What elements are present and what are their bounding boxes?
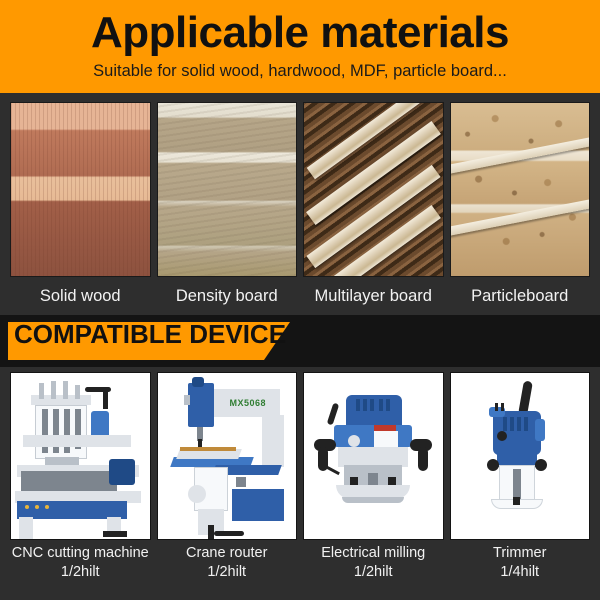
cnc-cutting-machine-photo [10, 372, 151, 540]
crane-router-photo: MX5068 [157, 372, 298, 540]
material-label: Particleboard [450, 277, 591, 315]
electrical-milling-photo [303, 372, 444, 540]
device-name: Trimmer [493, 545, 546, 561]
multilayer-board-texture [303, 102, 444, 277]
material-card-multilayer-board: Multilayer board [303, 102, 444, 315]
device-card-electrical-milling: Electrical milling 1/2hilt [303, 372, 444, 600]
compatible-device-label: COMPATIBLE DEVICE [14, 315, 286, 353]
device-name: Electrical milling [321, 545, 425, 561]
device-card-cnc-cutting-machine: CNC cutting machine 1/2hilt [10, 372, 151, 600]
material-label: Multilayer board [303, 277, 444, 315]
product-infographic: Applicable materials Suitable for solid … [0, 0, 600, 600]
compatible-device-banner-area: COMPATIBLE DEVICE [0, 315, 600, 367]
device-caption: Trimmer 1/4hilt [450, 540, 591, 582]
device-shank: 1/4hilt [450, 563, 591, 582]
compatible-devices-gallery: CNC cutting machine 1/2hilt MX5068 [0, 367, 600, 600]
material-card-solid-wood: Solid wood [10, 102, 151, 315]
density-board-texture [157, 102, 298, 277]
material-label: Density board [157, 277, 298, 315]
materials-gallery: Solid wood Density board Multilayer boar… [0, 93, 600, 315]
header-banner: Applicable materials Suitable for solid … [0, 0, 600, 93]
solid-wood-texture [10, 102, 151, 277]
trimmer-photo [450, 372, 591, 540]
material-card-particleboard: Particleboard [450, 102, 591, 315]
device-shank: 1/2hilt [303, 563, 444, 582]
particleboard-texture [450, 102, 591, 277]
device-shank: 1/2hilt [10, 563, 151, 582]
material-card-density-board: Density board [157, 102, 298, 315]
device-caption: Electrical milling 1/2hilt [303, 540, 444, 582]
page-subtitle: Suitable for solid wood, hardwood, MDF, … [0, 59, 600, 82]
device-shank: 1/2hilt [157, 563, 298, 582]
device-name: CNC cutting machine [12, 545, 149, 561]
device-card-crane-router: MX5068 Crane router 1/2hilt [157, 372, 298, 600]
device-name: Crane router [186, 545, 267, 561]
page-title: Applicable materials [0, 0, 600, 59]
device-caption: CNC cutting machine 1/2hilt [10, 540, 151, 582]
device-caption: Crane router 1/2hilt [157, 540, 298, 582]
material-label: Solid wood [10, 277, 151, 315]
crane-router-model-badge: MX5068 [230, 398, 267, 408]
device-card-trimmer: Trimmer 1/4hilt [450, 372, 591, 600]
